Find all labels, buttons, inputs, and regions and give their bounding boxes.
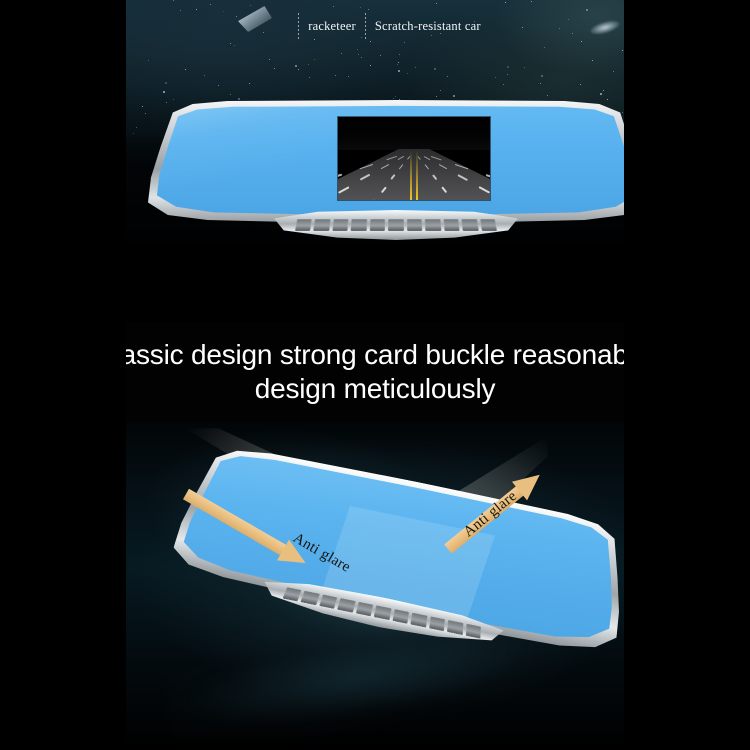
vent-slot [461,219,478,231]
screen-center-line-right [416,150,418,200]
vent-slot [314,219,331,231]
mirror-body [148,100,644,225]
letterbox-bar-right [624,0,750,750]
caption-line-2: design meticulously [255,372,496,406]
letterbox-bar-left [0,0,126,750]
caption-line-1: classic design strong card buckle reason… [101,338,649,372]
vent-slot [351,219,367,231]
header-caption-row: racketeer Scratch-resistant car [126,13,662,39]
vent-slot [388,219,404,231]
vent-slot [443,219,460,231]
dashcam-screen [338,117,490,200]
screen-road-surface [338,149,490,200]
vent-slot [370,219,386,231]
vent-slot [480,219,497,231]
vent-slot [295,219,312,231]
divider-dotted-left [298,13,299,39]
mirror-front-view [148,100,644,260]
mirror-mount-bracket [274,210,518,240]
product-detail-page: racketeer Scratch-resistant car [0,0,750,750]
screen-night-sky [338,117,490,150]
vent-slot [407,219,423,231]
hero-product-panel: racketeer Scratch-resistant car [126,0,662,322]
screen-center-line-left [410,150,412,200]
bracket-vent-slots [295,219,497,231]
divider-dotted-middle [365,13,366,39]
vent-slot [332,219,349,231]
brand-label: racketeer [299,13,365,39]
vent-slot [425,219,441,231]
feature-label: Scratch-resistant car [366,13,490,39]
anti-glare-panel [126,422,662,750]
